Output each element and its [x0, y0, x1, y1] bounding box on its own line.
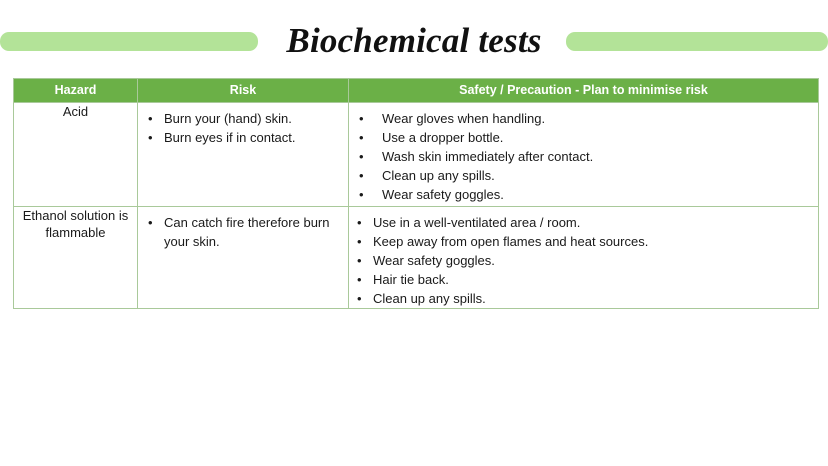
table-header-row: Hazard Risk Safety / Precaution - Plan t… [14, 79, 819, 103]
cell-safety: Use in a well-ventilated area / room. Ke… [349, 207, 819, 309]
hazard-label: Ethanol solution is flammable [14, 207, 137, 241]
list-item: Burn your (hand) skin. [138, 109, 342, 128]
list-item: Use a dropper bottle. [349, 128, 812, 147]
hazard-risk-table: Hazard Risk Safety / Precaution - Plan t… [13, 78, 819, 309]
cell-safety: Wear gloves when handling. Use a dropper… [349, 103, 819, 207]
safety-list: Use in a well-ventilated area / room. Ke… [349, 207, 818, 308]
cell-risk: Can catch fire therefore burn your skin. [138, 207, 349, 309]
list-item: Wear gloves when handling. [349, 109, 812, 128]
safety-list: Wear gloves when handling. Use a dropper… [349, 103, 818, 204]
list-item: Hair tie back. [349, 270, 812, 289]
list-item: Wash skin immediately after contact. [349, 147, 812, 166]
column-header-hazard: Hazard [14, 79, 138, 103]
column-header-risk: Risk [138, 79, 349, 103]
hazard-label: Acid [14, 103, 137, 120]
table-row: Acid Burn your (hand) skin. Burn eyes if… [14, 103, 819, 207]
list-item: Use in a well-ventilated area / room. [349, 213, 812, 232]
list-item: Can catch fire therefore burn your skin. [138, 213, 342, 251]
risk-list: Burn your (hand) skin. Burn eyes if in c… [138, 103, 348, 147]
list-item: Clean up any spills. [349, 166, 812, 185]
title-band: Biochemical tests [0, 18, 828, 64]
table-row: Ethanol solution is flammable Can catch … [14, 207, 819, 309]
list-item: Keep away from open flames and heat sour… [349, 232, 812, 251]
column-header-safety: Safety / Precaution - Plan to minimise r… [349, 79, 819, 103]
cell-hazard: Acid [14, 103, 138, 207]
table-body: Acid Burn your (hand) skin. Burn eyes if… [14, 103, 819, 309]
list-item: Wear safety goggles. [349, 185, 812, 204]
risk-list: Can catch fire therefore burn your skin. [138, 207, 348, 251]
page-title: Biochemical tests [0, 18, 828, 64]
table-header: Hazard Risk Safety / Precaution - Plan t… [14, 79, 819, 103]
list-item: Wear safety goggles. [349, 251, 812, 270]
cell-risk: Burn your (hand) skin. Burn eyes if in c… [138, 103, 349, 207]
cell-hazard: Ethanol solution is flammable [14, 207, 138, 309]
list-item: Clean up any spills. [349, 289, 812, 308]
list-item: Burn eyes if in contact. [138, 128, 342, 147]
